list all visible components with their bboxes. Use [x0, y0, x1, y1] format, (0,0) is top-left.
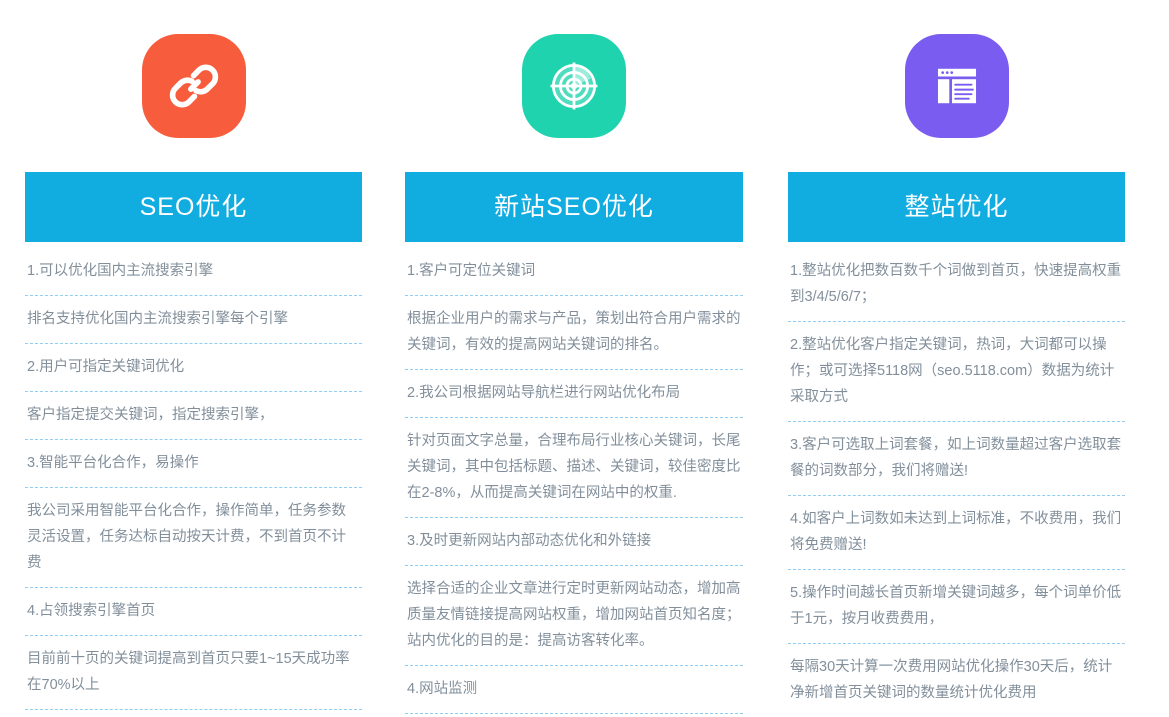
- radar-target-icon: [544, 56, 604, 116]
- list-item: 每隔30天计算一次费用网站优化操作30天后，统计净新增首页关键词的数量统计优化费…: [788, 644, 1125, 717]
- list-item: 5.安全、有效、稳定!: [25, 710, 362, 717]
- card-title-2: 新站SEO优化: [494, 195, 654, 220]
- icon-wrap-2: [405, 0, 743, 172]
- list-item: 1.客户可定位关键词: [405, 248, 743, 296]
- card-title-3: 整站优化: [904, 195, 1008, 220]
- list-item: 3.及时更新网站内部动态优化和外链接: [405, 518, 743, 566]
- service-card-whole-site-optimization: 整站优化 1.整站优化把数百数千个词做到首页，快速提高权重到3/4/5/6/7；…: [788, 0, 1125, 717]
- list-item: 根据企业用户的需求与产品，策划出符合用户需求的关键词，有效的提高网站关键词的排名…: [405, 296, 743, 370]
- list-item: 2.整站优化客户指定关键词，热词，大词都可以操作；或可选择5118网（seo.5…: [788, 322, 1125, 422]
- list-item: 3.客户可选取上词套餐，如上词数量超过客户选取套餐的词数部分，我们将赠送!: [788, 422, 1125, 496]
- feature-list-2: 1.客户可定位关键词 根据企业用户的需求与产品，策划出符合用户需求的关键词，有效…: [405, 242, 743, 717]
- card-title-bar-1: SEO优化: [25, 172, 362, 242]
- card-title-bar-2: 新站SEO优化: [405, 172, 743, 242]
- feature-list-1: 1.可以优化国内主流搜索引擎 排名支持优化国内主流搜索引擎每个引擎 2.用户可指…: [25, 242, 362, 717]
- list-item: 5.操作时间越长首页新增关键词越多，每个词单价低于1元，按月收费费用，: [788, 570, 1125, 644]
- service-card-new-site-seo-optimization: 新站SEO优化 1.客户可定位关键词 根据企业用户的需求与产品，策划出符合用户需…: [405, 0, 743, 717]
- list-item: 目前前十页的关键词提高到首页只要1~15天成功率在70%以上: [25, 636, 362, 710]
- list-item: 1.可以优化国内主流搜索引擎: [25, 248, 362, 296]
- feature-list-3: 1.整站优化把数百数千个词做到首页，快速提高权重到3/4/5/6/7； 2.整站…: [788, 242, 1125, 717]
- icon-wrap-3: [788, 0, 1125, 172]
- list-item: 针对页面文字总量，合理布局行业核心关键词，长尾关键词，其中包括标题、描述、关键词…: [405, 418, 743, 518]
- list-item: 1.整站优化把数百数千个词做到首页，快速提高权重到3/4/5/6/7；: [788, 248, 1125, 322]
- card-title-bar-3: 整站优化: [788, 172, 1125, 242]
- list-item: 我公司采用智能平台化合作，操作简单，任务参数灵活设置，任务达标自动按天计费，不到…: [25, 488, 362, 588]
- link-chain-icon: [165, 57, 223, 115]
- list-item: 3.智能平台化合作，易操作: [25, 440, 362, 488]
- list-item: 4.占领搜索引擎首页: [25, 588, 362, 636]
- service-columns: SEO优化 1.可以优化国内主流搜索引擎 排名支持优化国内主流搜索引擎每个引擎 …: [0, 0, 1169, 717]
- seo-services-page: SEO优化 1.可以优化国内主流搜索引擎 排名支持优化国内主流搜索引擎每个引擎 …: [0, 0, 1169, 717]
- radar-target-icon-tile: [522, 34, 626, 138]
- list-item: 排名支持优化国内主流搜索引擎每个引擎: [25, 296, 362, 344]
- link-chain-icon-tile: [142, 34, 246, 138]
- service-card-seo-optimization: SEO优化 1.可以优化国内主流搜索引擎 排名支持优化国内主流搜索引擎每个引擎 …: [25, 0, 362, 717]
- list-item: 2.用户可指定关键词优化: [25, 344, 362, 392]
- browser-layout-icon-tile: [905, 34, 1009, 138]
- list-item: 4.如客户上词数如未达到上词标准，不收费用，我们将免费赠送!: [788, 496, 1125, 570]
- list-item: 选择合适的企业文章进行定时更新网站动态，增加高质量友情链接提高网站权重，增加网站…: [405, 566, 743, 666]
- icon-wrap-1: [25, 0, 362, 172]
- browser-layout-icon: [928, 57, 986, 115]
- card-title-1: SEO优化: [140, 195, 248, 220]
- list-item: 2.我公司根据网站导航栏进行网站优化布局: [405, 370, 743, 418]
- list-item: 客户指定提交关键词，指定搜索引擎，: [25, 392, 362, 440]
- list-item: 4.网站监测: [405, 666, 743, 714]
